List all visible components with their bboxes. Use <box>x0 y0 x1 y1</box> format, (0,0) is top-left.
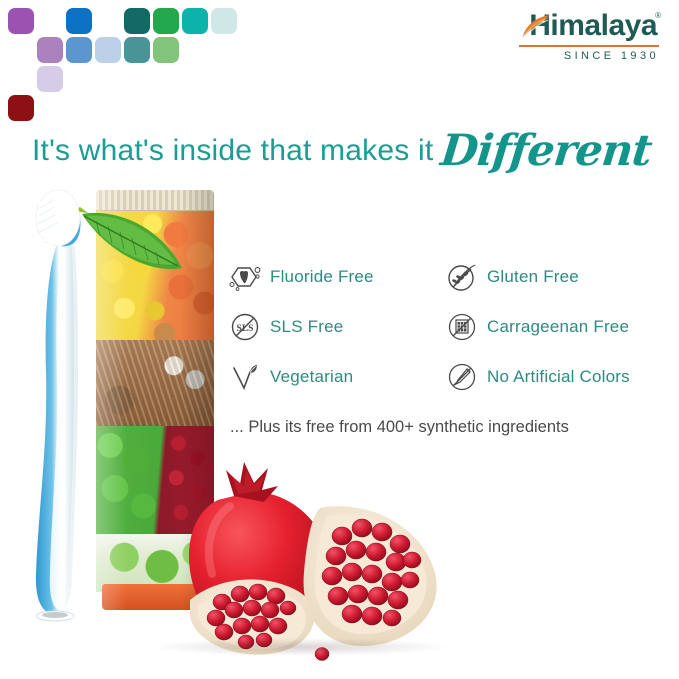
swatch-dark-red <box>8 95 34 121</box>
feature-label: No Artificial Colors <box>487 367 630 387</box>
swatch-mauve <box>37 37 63 63</box>
gluten-free-icon <box>445 260 479 294</box>
swatch-purple <box>8 8 34 34</box>
swatch-slate-teal <box>124 37 150 63</box>
feature-carrageenan-free: Carrageenan Free <box>445 302 670 352</box>
logo-brand-name: Himalaya <box>513 10 661 42</box>
feature-label: SLS Free <box>270 317 343 337</box>
neem-leaf-icon <box>78 204 188 292</box>
swatch-blue <box>66 8 92 34</box>
feature-label: Fluoride Free <box>270 267 374 287</box>
logo-divider-rule <box>519 45 659 47</box>
sls-free-icon: SLS <box>228 310 262 344</box>
registered-trademark-icon: ® <box>655 11 661 20</box>
swatch-green <box>153 8 179 34</box>
swatch-turquoise <box>182 8 208 34</box>
feature-label: Carrageenan Free <box>487 317 629 337</box>
vegetarian-icon <box>228 360 262 394</box>
feature-vegetarian: Vegetarian <box>228 352 438 402</box>
page-title: It's what's inside that makes itDifferen… <box>32 126 652 174</box>
swatch-lavender <box>37 66 63 92</box>
feature-column-left: Fluoride Free SLS SLS Free <box>228 252 438 402</box>
pomegranate <box>160 450 450 665</box>
carrageenan-free-icon <box>445 310 479 344</box>
promo-banner: Himalaya ® SINCE 1930 It's what's inside… <box>0 0 679 679</box>
swatch-light-blue <box>95 37 121 63</box>
himalaya-logo: Himalaya ® SINCE 1930 <box>513 10 661 64</box>
feature-column-right: Gluten Free <box>445 252 670 402</box>
feature-sls-free: SLS SLS Free <box>228 302 438 352</box>
feature-label: Gluten Free <box>487 267 579 287</box>
feature-no-artificial-colors: No Artificial Colors <box>445 352 670 402</box>
feature-gluten-free: Gluten Free <box>445 252 670 302</box>
logo-since-text: SINCE 1930 <box>513 50 661 62</box>
logo-wordmark: Himalaya ® <box>513 10 661 44</box>
feature-label: Vegetarian <box>270 367 353 387</box>
fluoride-free-icon <box>228 260 262 294</box>
footnote-text: ... Plus its free from 400+ synthetic in… <box>230 418 670 437</box>
swatch-light-green <box>153 37 179 63</box>
drop-shadow <box>150 638 450 656</box>
headline-script-text: Different <box>439 126 654 176</box>
layer-cinnamon <box>96 340 214 426</box>
swatch-dark-teal <box>124 8 150 34</box>
headline-plain-text: It's what's inside that makes it <box>32 134 433 167</box>
swatch-steel-blue <box>66 37 92 63</box>
swatch-pale-aqua <box>211 8 237 34</box>
feature-fluoride-free: Fluoride Free <box>228 252 438 302</box>
color-swatch-grid <box>0 0 230 100</box>
no-artificial-colors-icon <box>445 360 479 394</box>
